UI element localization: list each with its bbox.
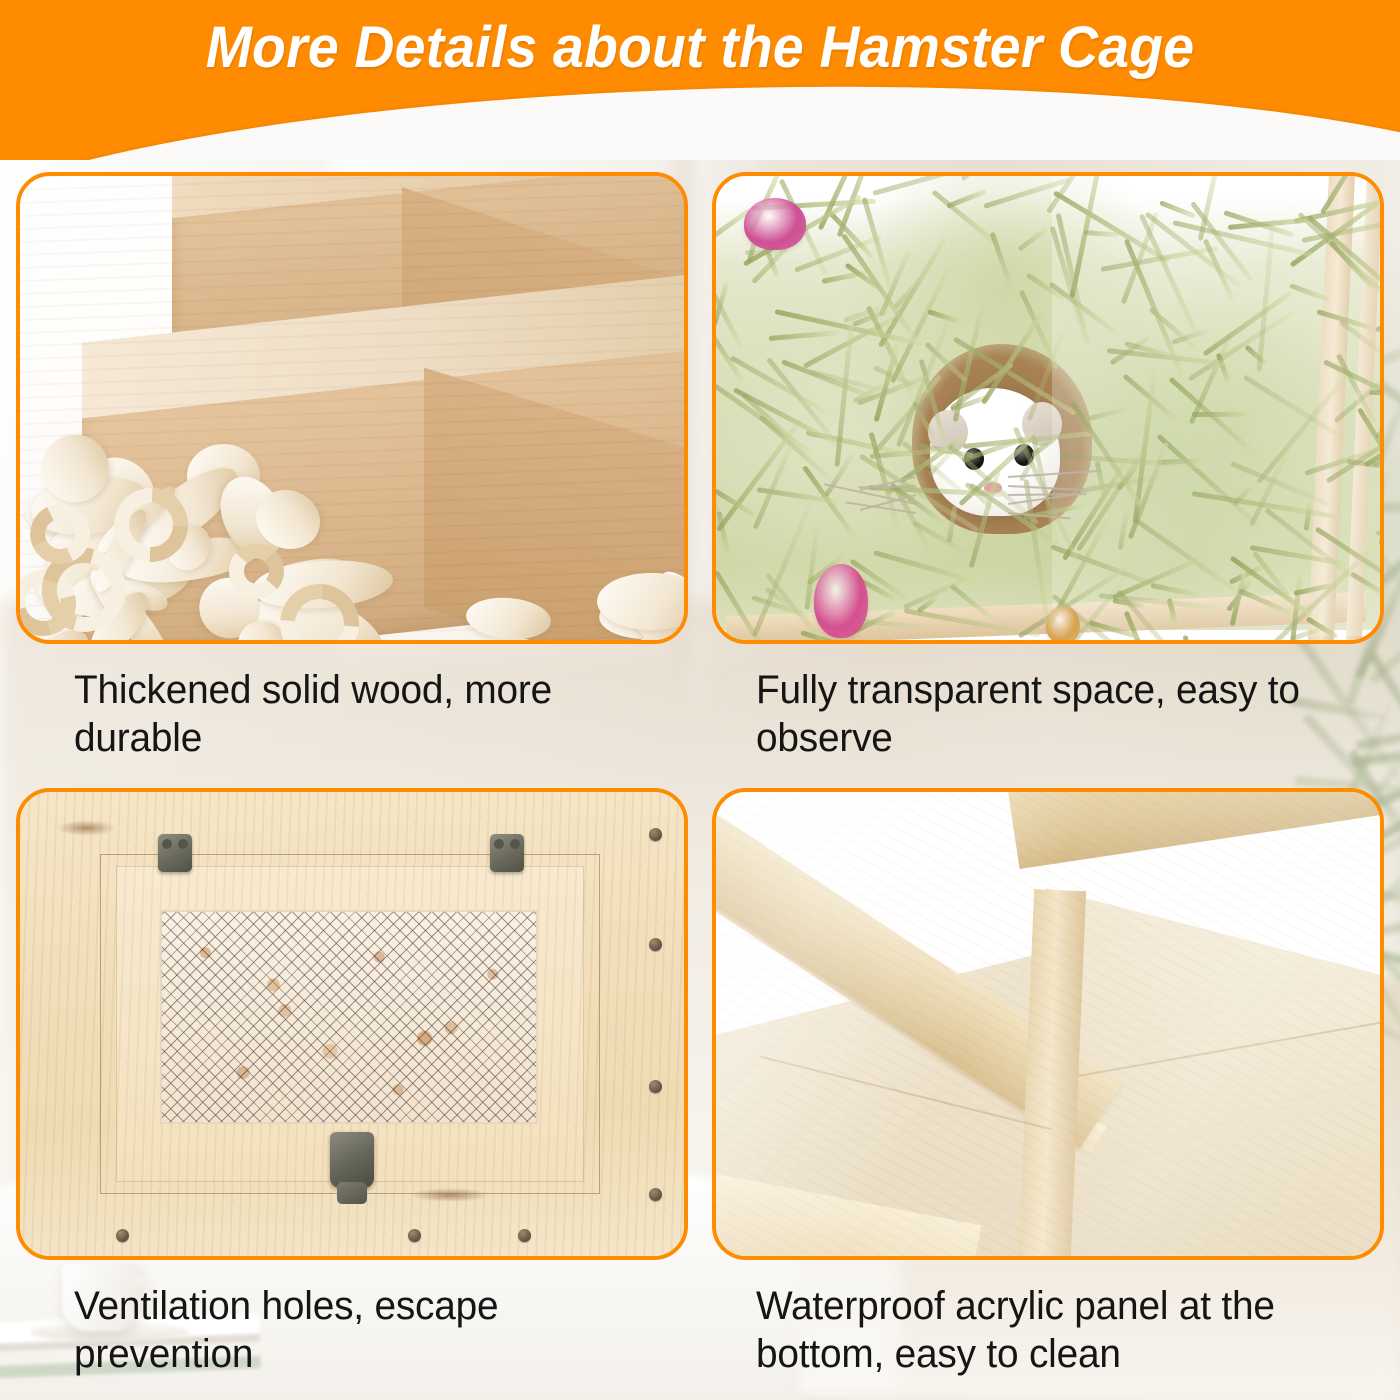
- hinge-left: [158, 834, 192, 872]
- screw-bottom-center-right: [518, 1229, 531, 1242]
- screw-top-right: [649, 828, 662, 841]
- ventilation-mesh: [160, 910, 538, 1124]
- screw-bottom-right: [649, 1188, 662, 1201]
- dried-flower: [814, 564, 868, 638]
- feature-card-thickened-solid-wood: Thickened solid wood, more durable: [16, 172, 688, 788]
- bedding-chips: [160, 910, 538, 1124]
- dried-flower: [744, 198, 806, 250]
- wood-rail-top-edge: [1004, 788, 1384, 791]
- screw-bottom-left: [116, 1229, 129, 1242]
- feature-caption-thickened-solid-wood: Thickened solid wood, more durable: [74, 666, 656, 762]
- wood-rail-top: [1006, 788, 1384, 869]
- hay-strand: [1380, 325, 1384, 352]
- hay-strand: [1183, 635, 1203, 644]
- hay-strand: [1192, 412, 1251, 417]
- page-title: More Details about the Hamster Cage: [32, 13, 1369, 83]
- feature-card-fully-transparent-space: Fully transparent space, easy to observe: [712, 172, 1384, 788]
- dried-flower: [1046, 606, 1080, 644]
- feature-image-waterproof-acrylic-panel: [712, 788, 1384, 1260]
- feature-caption-fully-transparent-space: Fully transparent space, easy to observe: [756, 666, 1338, 762]
- header-banner: More Details about the Hamster Cage: [0, 0, 1400, 160]
- feature-card-ventilation-holes: Ventilation holes, escape prevention: [16, 788, 688, 1400]
- door-latch[interactable]: [330, 1132, 374, 1188]
- feature-image-ventilation-holes: [16, 788, 688, 1260]
- hay-strand: [749, 640, 800, 644]
- feature-image-fully-transparent-space: [712, 172, 1384, 644]
- feature-grid: Thickened solid wood, more durable Fully…: [0, 160, 1400, 1400]
- hinge-right: [490, 834, 524, 872]
- feature-caption-waterproof-acrylic-panel: Waterproof acrylic panel at the bottom, …: [756, 1282, 1338, 1378]
- screw-mid-right-upper: [649, 938, 662, 951]
- wood-knot-1: [56, 820, 116, 836]
- feature-card-waterproof-acrylic-panel: Waterproof acrylic panel at the bottom, …: [712, 788, 1384, 1400]
- feature-caption-ventilation-holes: Ventilation holes, escape prevention: [74, 1282, 656, 1378]
- screw-bottom-center: [408, 1229, 421, 1242]
- feature-image-thickened-solid-wood: [16, 172, 688, 644]
- screw-mid-right-lower: [649, 1080, 662, 1093]
